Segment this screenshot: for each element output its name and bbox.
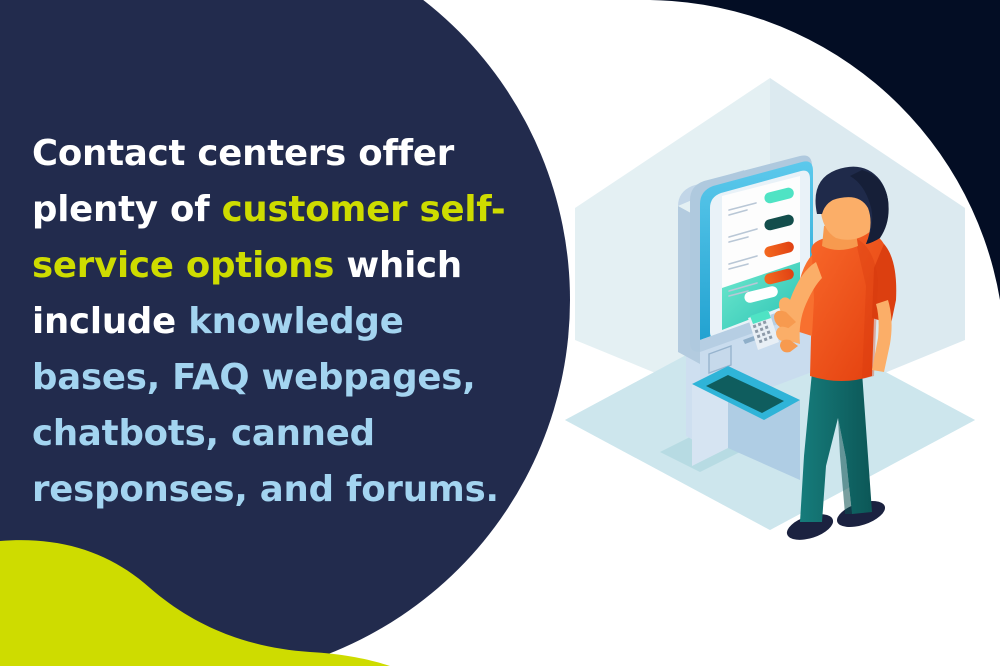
headline-text: Contact centers offer plenty of customer… [32, 126, 522, 518]
infographic-canvas: Contact centers offer plenty of customer… [0, 0, 1000, 666]
